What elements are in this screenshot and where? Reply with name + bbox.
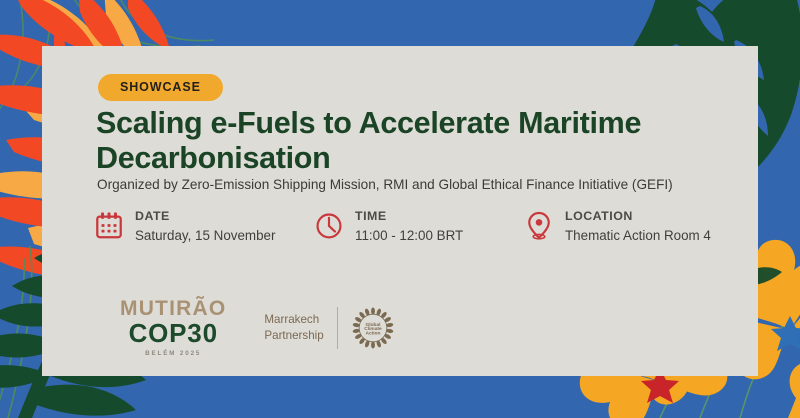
organizers-subtitle: Organized by Zero-Emission Shipping Miss…: [97, 176, 747, 194]
marrakech-line-2: Partnership: [264, 328, 323, 344]
logo-row: MUTIRÃO COP30 BELÉM 2025 Marrakech Partn…: [120, 298, 395, 357]
cop30-logo-belem: BELÉM 2025: [120, 351, 226, 357]
meta-label-location: LOCATION: [565, 209, 711, 225]
event-card: SHOWCASE Scaling e-Fuels to Accelerate M…: [42, 46, 758, 376]
logo-divider: [337, 307, 338, 349]
calendar-icon: [94, 209, 124, 241]
event-announcement-graphic: SHOWCASE Scaling e-Fuels to Accelerate M…: [0, 0, 800, 418]
cop30-logo-mutirao: MUTIRÃO: [120, 298, 226, 319]
cop30-logo-cop30: COP30: [120, 320, 226, 346]
global-climate-action-emblem: Global Climate Action: [351, 306, 395, 350]
meta-label-time: TIME: [355, 209, 463, 225]
meta-item-date: DATE Saturday, 15 November: [94, 208, 314, 245]
cop30-logo: MUTIRÃO COP30 BELÉM 2025: [120, 298, 226, 357]
clock-icon: [314, 209, 344, 241]
meta-value-time: 11:00 - 12:00 BRT: [355, 227, 463, 245]
meta-item-location: LOCATION Thematic Action Room 4: [524, 208, 744, 245]
status-badge: SHOWCASE: [98, 74, 223, 101]
marrakech-line-1: Marrakech: [264, 312, 323, 328]
meta-value-date: Saturday, 15 November: [135, 227, 275, 245]
meta-label-date: DATE: [135, 209, 275, 225]
emblem-line-3: Action: [365, 330, 380, 336]
marrakech-partnership-logo: Marrakech Partnership Global Climate Act…: [264, 306, 394, 350]
meta-item-time: TIME 11:00 - 12:00 BRT: [314, 208, 524, 245]
event-meta-row: DATE Saturday, 15 November TIME 11:00 - …: [94, 208, 744, 245]
map-pin-icon: [524, 209, 554, 241]
meta-value-location: Thematic Action Room 4: [565, 227, 711, 245]
page-title: Scaling e-Fuels to Accelerate Maritime D…: [96, 106, 716, 177]
marrakech-partnership-text: Marrakech Partnership: [264, 312, 323, 343]
